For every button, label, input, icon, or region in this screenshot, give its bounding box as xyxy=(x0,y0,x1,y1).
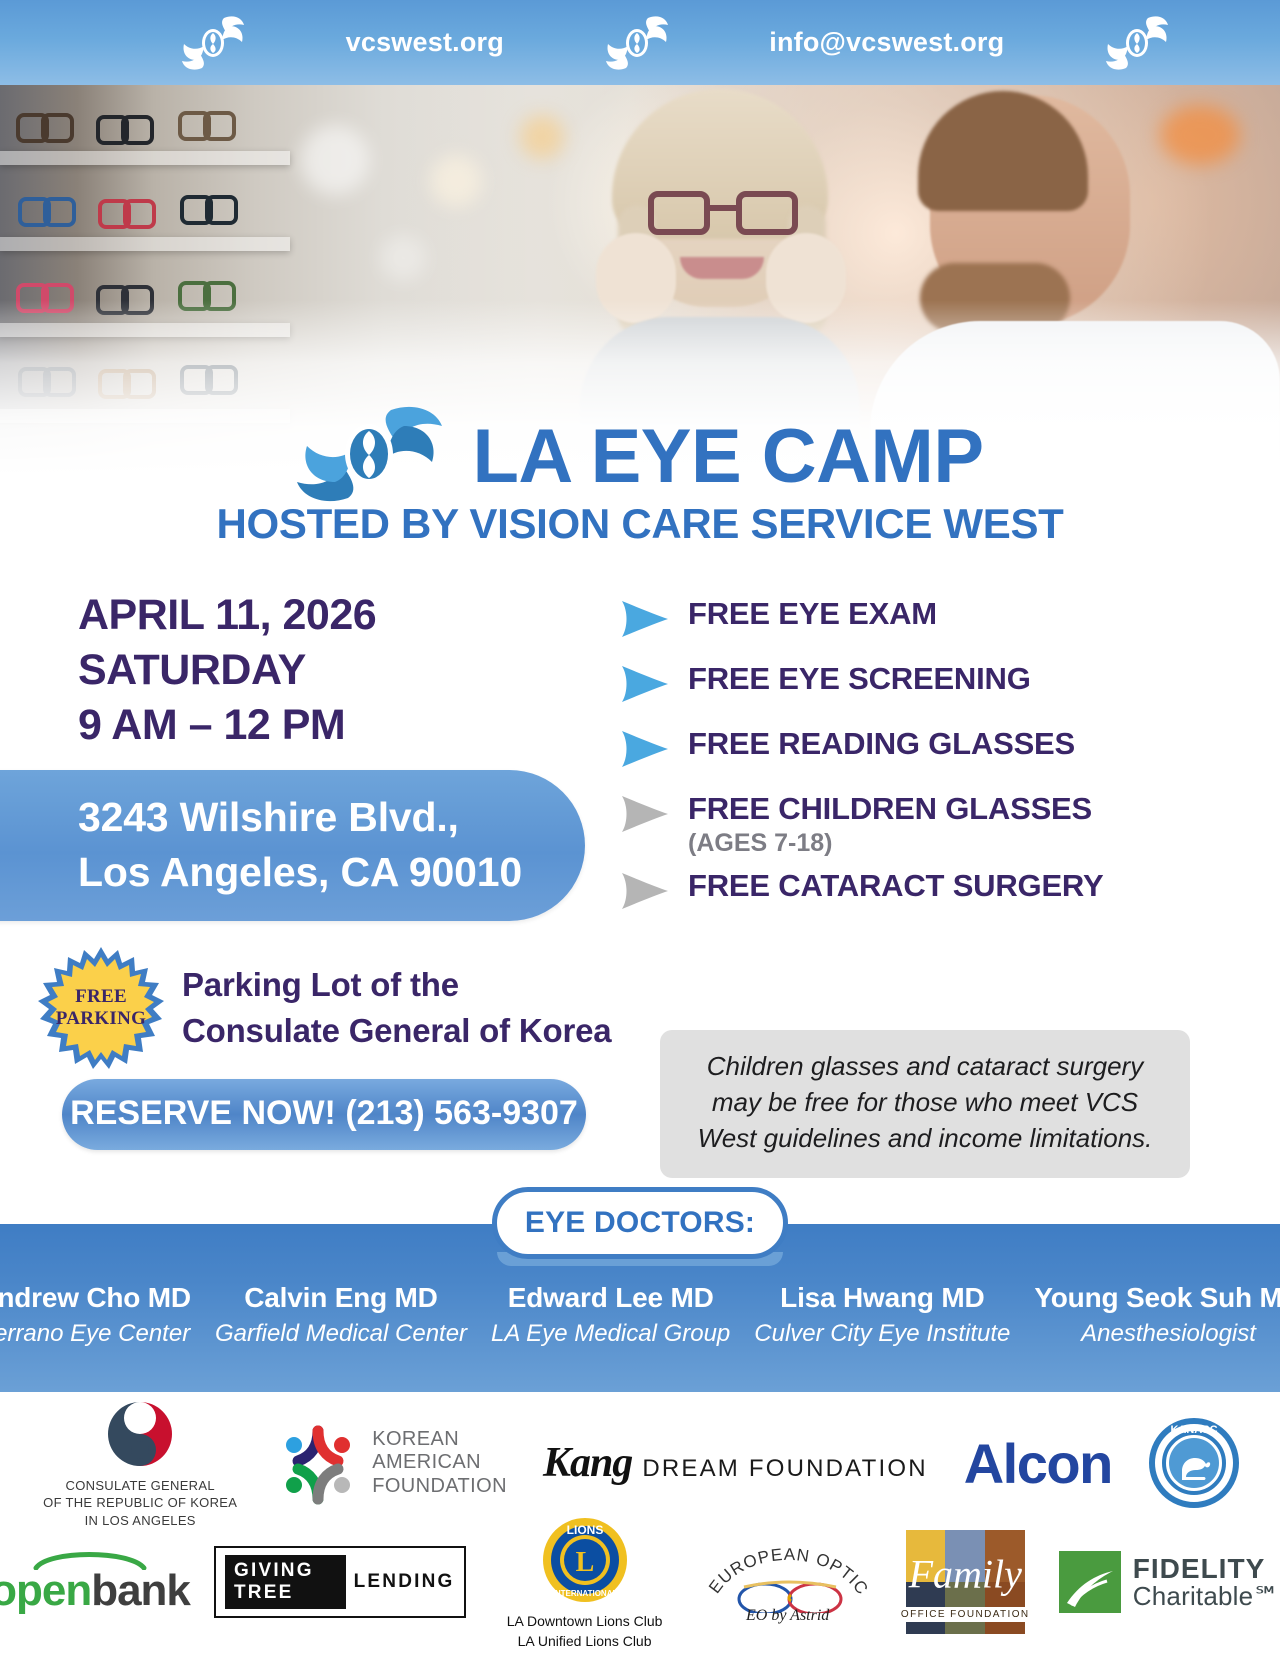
kanasc-seal-icon: KANASC xyxy=(1148,1417,1240,1509)
sponsor-logo-fidelity-charitable: FIDELITY Charitable℠ xyxy=(1059,1551,1280,1613)
fidelity-leaf-icon xyxy=(1059,1551,1121,1613)
free-parking-badge: FREE PARKING xyxy=(38,945,164,1071)
title-row: LA EYE CAMP xyxy=(0,400,1280,513)
hand-globe-logo-icon xyxy=(604,12,670,74)
service-label: FREE EYE SCREENING xyxy=(688,661,1031,697)
people-star-icon xyxy=(276,1421,360,1505)
sponsor-row-2: openbank GIVING TREE LENDING L LIONS xyxy=(0,1520,1280,1644)
sponsor-wordmark: FIDELITY xyxy=(1133,1554,1280,1583)
doctor-affiliation: Garfield Medical Center xyxy=(215,1320,467,1348)
doctor-affiliation: Serrano Eye Center xyxy=(0,1320,191,1348)
service-item: FREE EYE SCREENING xyxy=(620,661,1260,708)
sponsor-caption: LA Unified Lions Club xyxy=(507,1632,663,1652)
bokeh-highlight xyxy=(300,125,370,195)
hand-globe-logo-icon xyxy=(180,12,246,74)
parking-badge-line-1: FREE xyxy=(75,986,127,1008)
sponsor-logo-family-office-foundation: Family OFFICE FOUNDATION xyxy=(906,1530,1025,1634)
sponsor-wordmark-rest: Charitable℠ xyxy=(1133,1583,1280,1610)
doctor-name: Andrew Cho MD xyxy=(0,1282,191,1314)
doctor-name: Lisa Hwang MD xyxy=(754,1282,1010,1314)
doctor-affiliation: LA Eye Medical Group xyxy=(491,1320,730,1348)
sponsor-wordmark-rest: bank xyxy=(91,1566,190,1615)
sponsor-wordmark: Kang xyxy=(543,1439,632,1487)
service-sublabel: (AGES 7-18) xyxy=(688,829,1092,858)
doctor-entry: Edward Lee MD LA Eye Medical Group xyxy=(479,1282,742,1348)
sponsor-logo-lions-international: L LIONS INTERNATIONAL LA Downtown Lions … xyxy=(500,1512,670,1651)
sponsor-wordmark: Family xyxy=(909,1550,1022,1597)
parking-badge-line-2: PARKING xyxy=(56,1008,146,1030)
arrow-right-icon xyxy=(620,872,670,915)
poster-root: vcswest.org info@vcswest.org xyxy=(0,0,1280,1657)
doctor-entry: Young Seok Suh MD Anesthesiologist xyxy=(1022,1282,1280,1348)
address-line-1: 3243 Wilshire Blvd., xyxy=(78,790,575,845)
lions-sub: INTERNATIONAL xyxy=(552,1589,617,1598)
arrow-right-icon xyxy=(620,665,670,708)
bokeh-highlight xyxy=(430,155,482,207)
arrow-right-icon xyxy=(620,795,670,838)
top-contact-bar: vcswest.org info@vcswest.org xyxy=(0,0,1280,85)
svg-text:EUROPEAN OPTICAL: EUROPEAN OPTICAL xyxy=(704,1539,872,1599)
hand-globe-logo-icon xyxy=(1104,12,1170,74)
sponsor-row-1: CONSULATE GENERAL OF THE REPUBLIC OF KOR… xyxy=(0,1398,1280,1528)
kanasc-label: KANASC xyxy=(1170,1424,1217,1436)
european-optical-icon: EUROPEAN OPTICAL xyxy=(704,1539,872,1613)
sponsors-section: CONSULATE GENERAL OF THE REPUBLIC OF KOR… xyxy=(0,1392,1280,1657)
sponsor-logo-kang-dream-foundation: Kang DREAM FOUNDATION xyxy=(543,1439,928,1487)
doctor-entry: Lisa Hwang MD Culver City Eye Institute xyxy=(742,1282,1022,1348)
sponsor-text-line: KOREAN xyxy=(372,1428,507,1452)
service-label: FREE READING GLASSES xyxy=(688,726,1075,762)
parking-info: FREE PARKING Parking Lot of the Consulat… xyxy=(38,945,611,1071)
lions-emblem-icon: L LIONS INTERNATIONAL xyxy=(537,1512,633,1608)
service-label: FREE CATARACT SURGERY xyxy=(688,868,1103,904)
service-item: FREE CHILDREN GLASSES (AGES 7-18) xyxy=(620,791,1260,858)
arrow-right-icon xyxy=(620,730,670,773)
event-address: 3243 Wilshire Blvd., Los Angeles, CA 900… xyxy=(0,770,585,921)
parking-text-line-1: Parking Lot of the xyxy=(182,962,611,1008)
sponsor-wordmark: Alcon xyxy=(964,1431,1112,1496)
sponsor-caption: OFFICE FOUNDATION xyxy=(895,1607,1036,1622)
sponsor-text-line: AMERICAN xyxy=(372,1451,507,1475)
lions-word: LIONS xyxy=(566,1523,603,1537)
sponsor-logo-european-optical: EUROPEAN OPTICAL EO by Astrid xyxy=(704,1539,872,1625)
sponsor-caption: LA Downtown Lions Club xyxy=(507,1612,663,1632)
page-title: LA EYE CAMP xyxy=(472,419,983,495)
doctors-list: Andrew Cho MD Serrano Eye Center Calvin … xyxy=(0,1282,1280,1348)
sponsor-logo-consulate-general-korea: CONSULATE GENERAL OF THE REPUBLIC OF KOR… xyxy=(40,1397,240,1530)
parking-text-line-2: Consulate General of Korea xyxy=(182,1008,611,1054)
hand-globe-logo-icon xyxy=(296,400,446,513)
email-text: info@vcswest.org xyxy=(769,27,1004,58)
reserve-now-button[interactable]: RESERVE NOW! (213) 563-9307 xyxy=(62,1079,586,1150)
address-line-2: Los Angeles, CA 90010 xyxy=(78,845,575,900)
lions-letter: L xyxy=(575,1547,594,1578)
service-label: FREE EYE EXAM xyxy=(688,596,937,632)
sponsor-wordmark: open xyxy=(0,1566,91,1615)
sponsor-logo-alcon: Alcon xyxy=(964,1431,1112,1496)
page-subtitle: HOSTED BY VISION CARE SERVICE WEST xyxy=(0,500,1280,548)
sponsor-logo-kanasc: KANASC xyxy=(1148,1417,1240,1509)
sponsor-logo-open-bank: openbank xyxy=(0,1548,180,1616)
eye-doctors-heading: EYE DOCTORS: xyxy=(492,1187,788,1259)
sponsor-logo-giving-tree-lending: GIVING TREE LENDING xyxy=(214,1546,466,1618)
bokeh-highlight xyxy=(380,235,426,281)
services-list: FREE EYE EXAM FREE EYE SCREENING FREE RE… xyxy=(620,596,1260,933)
european-optical-arc-text: EUROPEAN OPTICAL xyxy=(704,1539,872,1599)
service-item: FREE EYE EXAM xyxy=(620,596,1260,643)
doctor-affiliation: Culver City Eye Institute xyxy=(754,1320,1010,1348)
event-date-block: APRIL 11, 2026 SATURDAY 9 AM – 12 PM xyxy=(78,588,376,753)
doctor-entry: Calvin Eng MD Garfield Medical Center xyxy=(203,1282,479,1348)
eligibility-disclaimer: Children glasses and cataract surgery ma… xyxy=(660,1030,1190,1178)
sponsor-wordmark-rest: DREAM FOUNDATION xyxy=(642,1455,927,1483)
doctor-affiliation: Anesthesiologist xyxy=(1034,1320,1280,1348)
service-item: FREE READING GLASSES xyxy=(620,726,1260,773)
arrow-right-icon xyxy=(620,600,670,643)
service-label: FREE CHILDREN GLASSES xyxy=(688,791,1092,827)
doctor-name: Calvin Eng MD xyxy=(215,1282,467,1314)
doctor-name: Edward Lee MD xyxy=(491,1282,730,1314)
doctor-entry: Andrew Cho MD Serrano Eye Center xyxy=(0,1282,203,1348)
sponsor-text-line: FOUNDATION xyxy=(372,1475,507,1499)
sponsor-caption: EO by Astrid xyxy=(746,1607,829,1625)
event-date: APRIL 11, 2026 xyxy=(78,588,376,643)
service-item: FREE CATARACT SURGERY xyxy=(620,868,1260,915)
doctor-name: Young Seok Suh MD xyxy=(1034,1282,1280,1314)
sponsor-wordmark: GIVING TREE xyxy=(225,1555,346,1609)
event-time: 9 AM – 12 PM xyxy=(78,698,376,753)
sponsor-wordmark-rest: LENDING xyxy=(354,1571,455,1593)
sponsor-logo-korean-american-foundation: KOREAN AMERICAN FOUNDATION xyxy=(276,1421,507,1505)
website-text: vcswest.org xyxy=(346,27,504,58)
event-day: SATURDAY xyxy=(78,643,376,698)
taegeuk-icon xyxy=(103,1397,177,1471)
